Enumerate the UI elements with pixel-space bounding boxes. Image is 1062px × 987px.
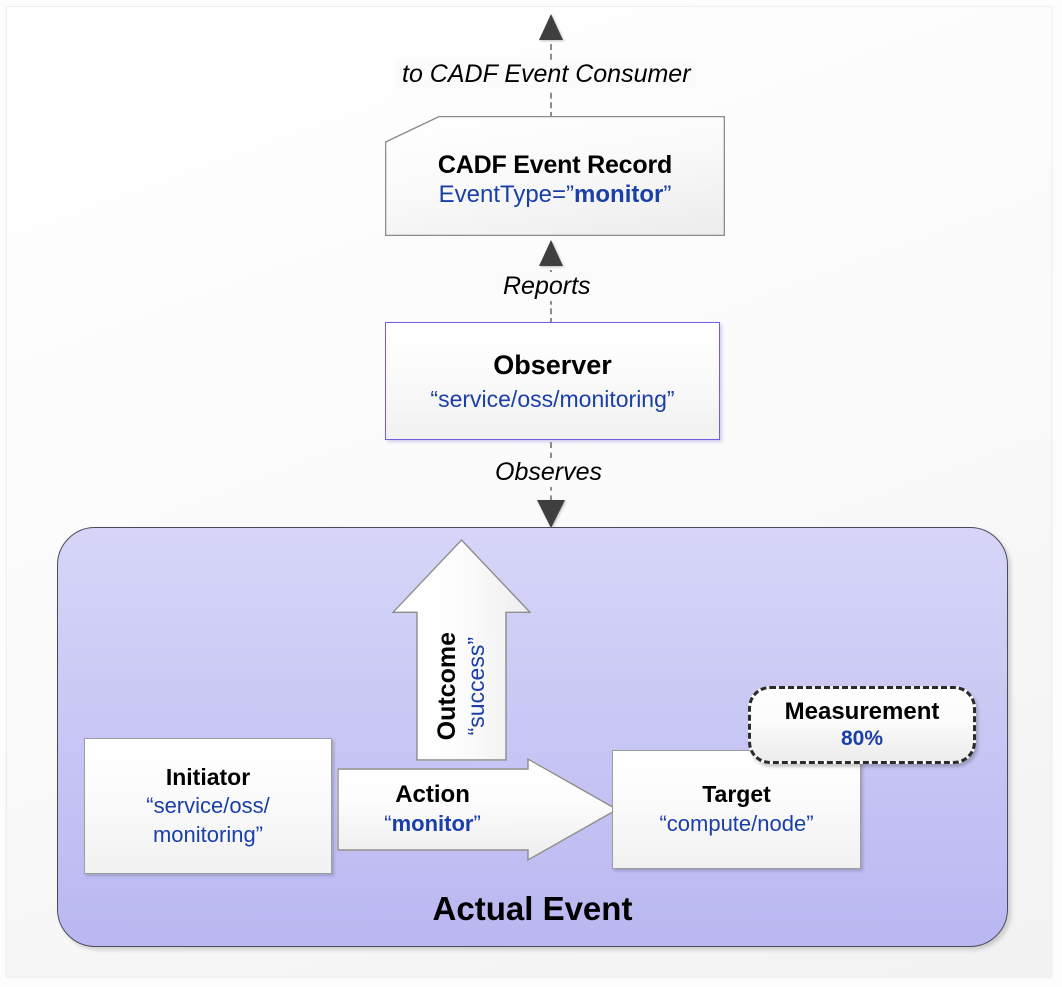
observer-title: Observer — [493, 350, 612, 380]
cadf-record-title: CADF Event Record — [438, 151, 672, 179]
target-box[interactable]: Target “compute/node” — [612, 750, 861, 869]
outcome-title: Outcome — [433, 632, 461, 740]
cadf-record-detail-value: monitor — [574, 181, 663, 208]
initiator-box[interactable]: Initiator “service/oss/ monitoring” — [84, 738, 332, 874]
observes-label: Observes — [489, 458, 608, 487]
reports-label: Reports — [497, 272, 597, 301]
cadf-record-detail-prefix: EventType=” — [439, 181, 574, 208]
initiator-detail-line1: “service/oss/ — [146, 793, 269, 819]
reports-arrow-head-icon — [539, 240, 563, 266]
cadf-event-record-box[interactable]: CADF Event Record EventType=”monitor” — [385, 116, 725, 236]
cadf-record-detail: EventType=”monitor” — [439, 181, 672, 209]
measurement-bubble[interactable]: Measurement 80% — [748, 686, 976, 764]
action-detail: “monitor” — [384, 811, 481, 837]
action-title: Action — [395, 782, 470, 809]
observer-detail: “service/oss/monitoring” — [430, 386, 674, 413]
outcome-arrow-content: Outcome “success” — [392, 612, 531, 761]
observes-arrow-head-icon — [537, 500, 565, 528]
measurement-value: 80% — [841, 727, 883, 751]
action-detail-prefix: “ — [384, 811, 391, 836]
cadf-record-content: CADF Event Record EventType=”monitor” — [385, 116, 725, 236]
initiator-detail-line2: monitoring” — [153, 822, 263, 848]
measurement-title: Measurement — [785, 699, 940, 726]
consumer-arrow-head-icon — [539, 14, 563, 40]
action-detail-suffix: ” — [473, 811, 480, 836]
actual-event-label: Actual Event — [58, 890, 1007, 928]
outcome-detail: “success” — [463, 637, 490, 735]
action-detail-value: monitor — [392, 811, 474, 836]
diagram-canvas: to CADF Event Consumer CADF Event Record… — [0, 0, 1062, 987]
observer-box[interactable]: Observer “service/oss/monitoring” — [385, 322, 720, 440]
target-title: Target — [702, 782, 771, 808]
action-arrow-content: Action “monitor” — [337, 758, 528, 861]
initiator-title: Initiator — [166, 765, 250, 791]
cadf-record-detail-suffix: ” — [663, 181, 671, 208]
action-arrow[interactable]: Action “monitor” — [337, 758, 618, 861]
target-detail: “compute/node” — [659, 811, 813, 837]
to-cadf-event-consumer-label: to CADF Event Consumer — [396, 60, 697, 89]
outcome-arrow[interactable]: Outcome “success” — [392, 539, 531, 761]
